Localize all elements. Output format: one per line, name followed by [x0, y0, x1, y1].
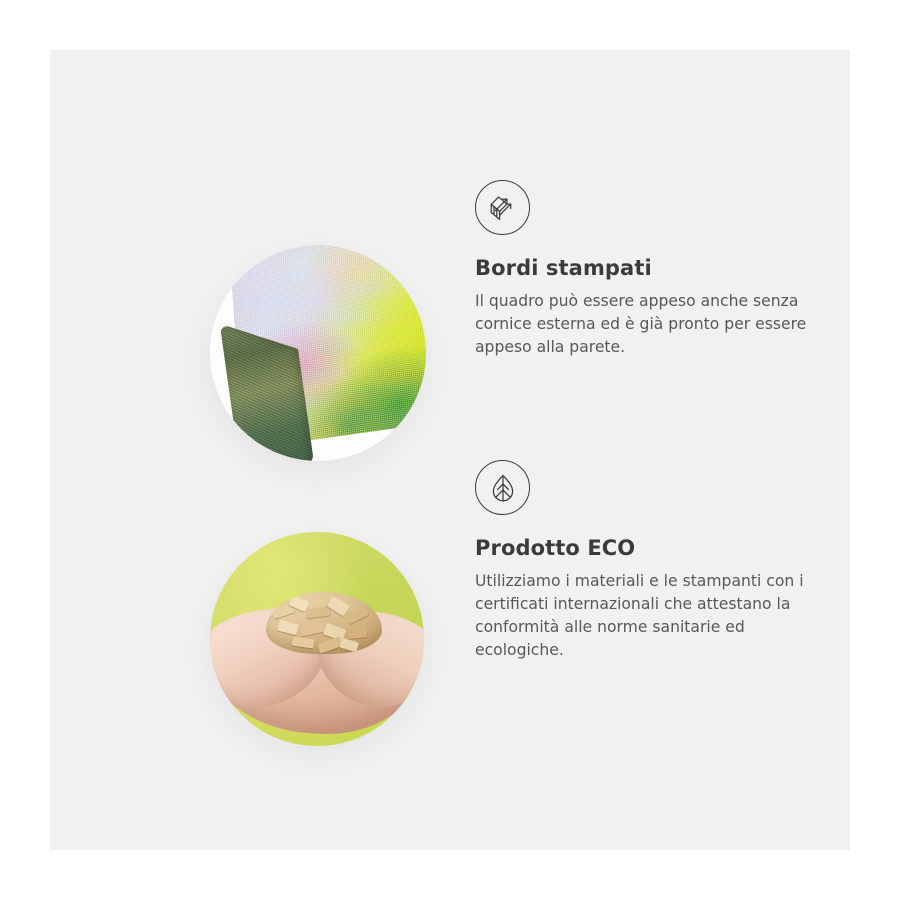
- feature-body: Il quadro può essere appeso anche senza …: [475, 290, 837, 359]
- feature-content-eco-product: Prodotto ECO Utilizziamo i materiali e l…: [475, 460, 845, 662]
- feature-title: Prodotto ECO: [475, 537, 845, 560]
- feature-body: Utilizziamo i materiali e le stampanti c…: [475, 570, 837, 662]
- printed-edges-icon: [475, 180, 530, 235]
- feature-block-printed-edges: Bordi stampati Il quadro può essere appe…: [50, 180, 850, 450]
- feature-title: Bordi stampati: [475, 257, 845, 280]
- media-eco-product: [210, 532, 424, 746]
- feature-block-eco-product: Prodotto ECO Utilizziamo i materiali e l…: [50, 460, 850, 760]
- leaf-icon: [475, 460, 530, 515]
- canvas-corner-photo: [210, 245, 426, 461]
- feature-content-printed-edges: Bordi stampati Il quadro può essere appe…: [475, 180, 845, 359]
- content-panel: Bordi stampati Il quadro può essere appe…: [50, 50, 850, 850]
- wood-chips-pile: [266, 592, 382, 654]
- media-printed-edges: [210, 245, 426, 461]
- product-feature-page: Bordi stampati Il quadro può essere appe…: [0, 0, 900, 900]
